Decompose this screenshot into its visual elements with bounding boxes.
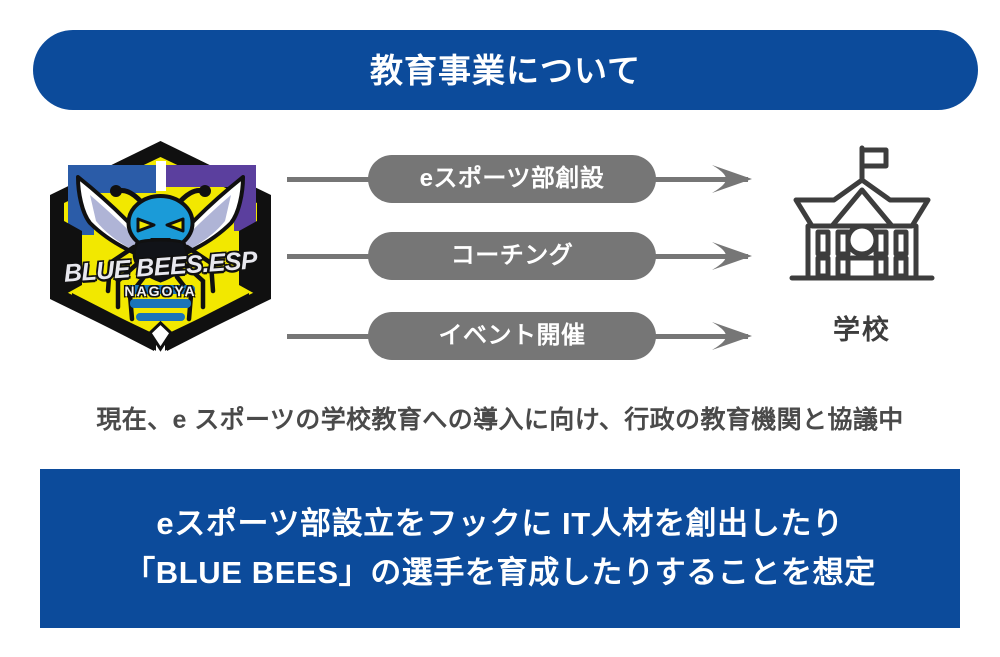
page-title: 教育事業について: [370, 54, 641, 87]
flow-label-pill-1: eスポーツ部創設: [368, 155, 656, 203]
education-flow-diagram: BLUE BEES.ESP NAGOYA eスポーツ部創設 コーチング: [0, 130, 1000, 375]
logo-hexagon-graphic: [38, 135, 283, 355]
page-title-banner: 教育事業について: [33, 30, 978, 110]
arrow-head-icon: [712, 238, 752, 274]
conclusion-line-2: 「BLUE BEES」の選手を育成したりすることを想定: [124, 549, 876, 597]
conclusion-block: eスポーツ部設立をフックに IT人材を創出したり 「BLUE BEES」の選手を…: [40, 469, 960, 628]
flow-label-pill-3: イベント開催: [368, 312, 656, 360]
school-building-icon: [782, 142, 942, 302]
flow-label-2: コーチング: [451, 244, 574, 268]
flow-row-1: eスポーツ部創設: [285, 155, 750, 203]
school-label: 学校: [772, 308, 952, 347]
flow-label-1: eスポーツ部創設: [420, 167, 605, 191]
arrow-head-icon: [712, 161, 752, 197]
blue-bees-esp-logo: BLUE BEES.ESP NAGOYA: [38, 135, 283, 355]
flow-row-2: コーチング: [285, 232, 750, 280]
school-target: 学校: [772, 142, 952, 372]
flow-row-3: イベント開催: [285, 312, 750, 360]
arrow-head-icon: [712, 318, 752, 354]
flow-label-pill-2: コーチング: [368, 232, 656, 280]
flow-label-3: イベント開催: [439, 324, 586, 348]
status-note: 現在、e スポーツの学校教育への導入に向け、行政の教育機関と協議中: [0, 400, 1000, 436]
conclusion-line-1: eスポーツ部設立をフックに IT人材を創出したり: [156, 500, 843, 548]
